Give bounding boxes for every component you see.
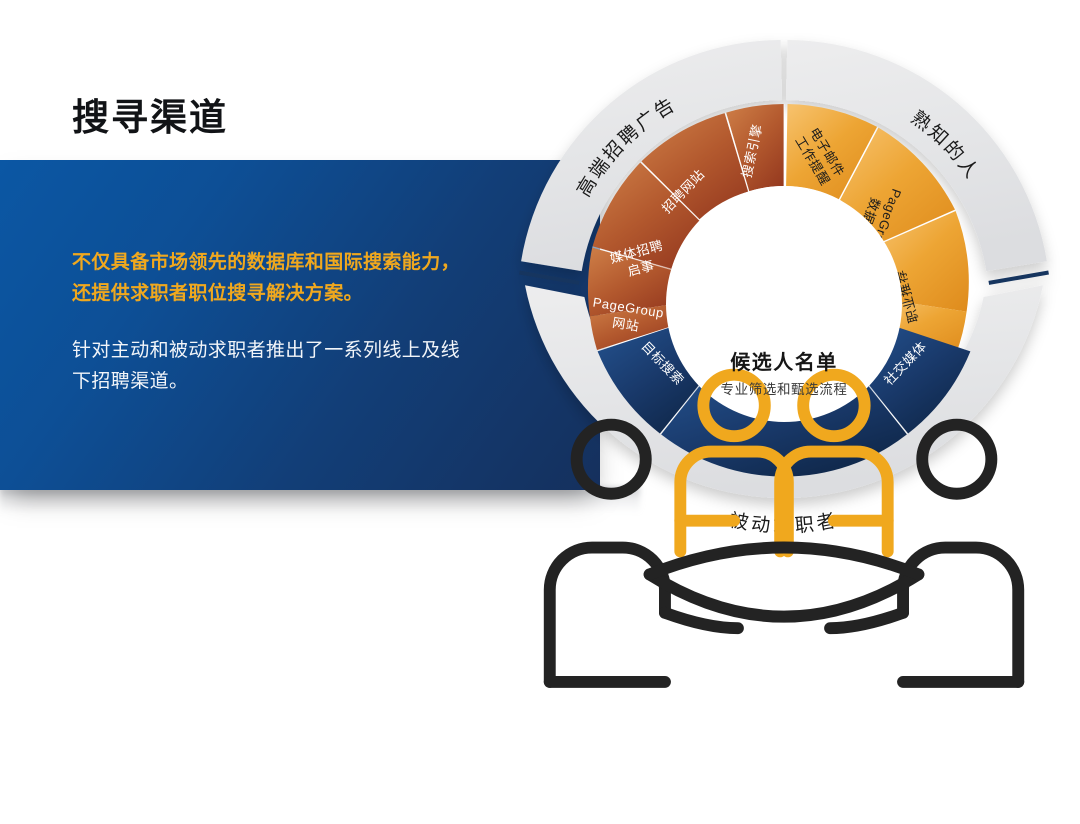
hub-subtitle: 专业筛选和甄选流程 <box>721 378 848 398</box>
highlight-paragraph: 不仅具备市场领先的数据库和国际搜索能力，还提供求职者职位搜寻解决方案。 <box>72 247 462 309</box>
hub-title: 候选人名单 <box>730 346 838 375</box>
secondary-paragraph: 针对主动和被动求职者推出了一系列线上及线下招聘渠道。 <box>72 335 462 397</box>
body-copy-block: 不仅具备市场领先的数据库和国际搜索能力，还提供求职者职位搜寻解决方案。 针对主动… <box>72 247 462 397</box>
channel-donut-chart: 高端招聘广告 熟知的人 被动求职者 搜索引擎 招聘网站 媒体招聘启事 PageG… <box>496 16 1072 592</box>
people-at-table-icon <box>496 248 1072 824</box>
page-title: 搜寻渠道 <box>72 87 228 141</box>
slide-canvas: 搜寻渠道 不仅具备市场领先的数据库和国际搜索能力，还提供求职者职位搜寻解决方案。… <box>0 0 1080 608</box>
